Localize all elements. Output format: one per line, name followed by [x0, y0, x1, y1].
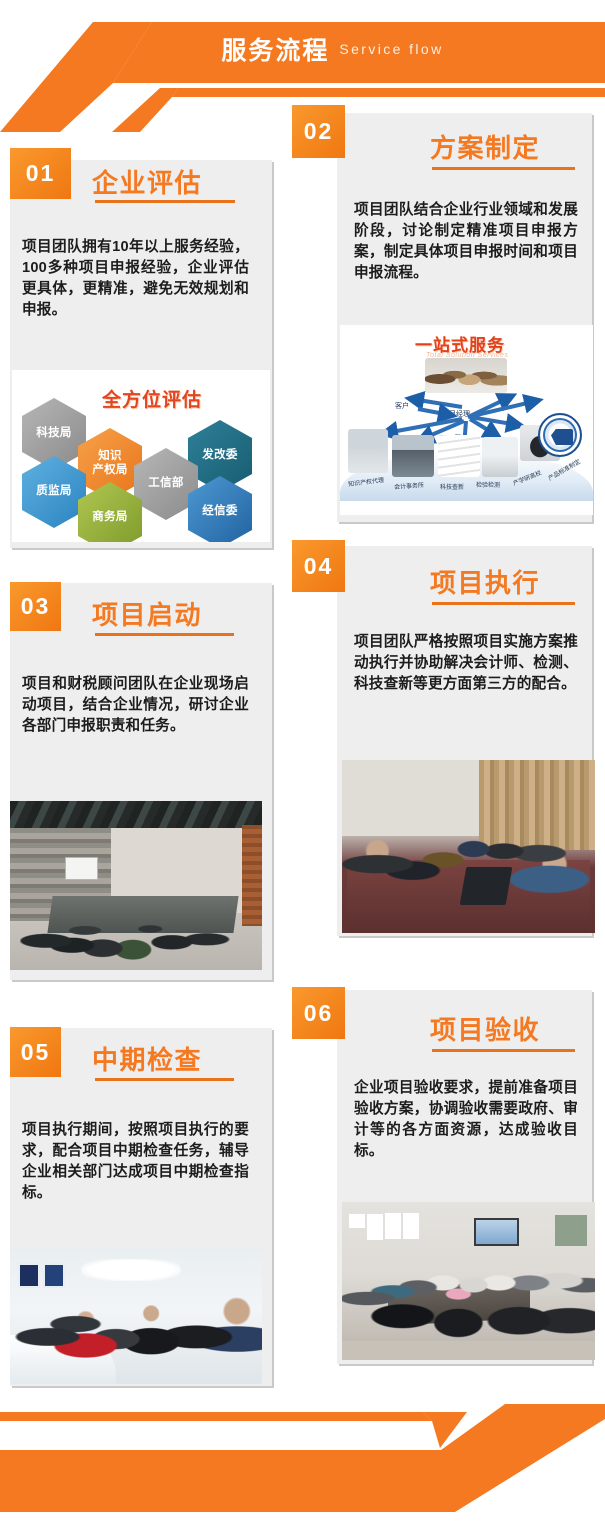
figure-photo-03	[10, 801, 262, 970]
step-title-06: 项目验收	[430, 1010, 540, 1047]
step-number-02: 02	[292, 105, 345, 158]
step-title-underline-04	[432, 602, 575, 605]
hex-node-zhijian: 质监局	[22, 456, 86, 528]
step-desc-03: 项目和财税顾问团队在企业现场启动项目，结合企业情况，研讨企业各部门申报职责和任务…	[22, 674, 249, 737]
figure-photo-05	[10, 1247, 262, 1384]
os-service-label-3: 科技查新	[440, 482, 464, 491]
step-title-underline-01	[95, 200, 235, 203]
step-title-underline-05	[95, 1078, 234, 1081]
step-title-underline-03	[95, 633, 234, 636]
step-desc-02: 项目团队结合企业行业领域和发展阶段，讨论制定精准项目申报方案，制定具体项目申报时…	[354, 200, 578, 284]
figure-hex-diagram-01: 全方位评估 科技局 知识 产权局 发改委 质监局 工信部 经信委 商务局	[12, 370, 270, 542]
os-photo-ip	[348, 429, 388, 473]
os-service-label-4: 检验检测	[476, 480, 500, 489]
step-title-03: 项目启动	[92, 595, 202, 632]
footer-banner-shape	[0, 1404, 605, 1538]
step-desc-05: 项目执行期间，按照项目执行的要求，配合项目中期检查任务，辅导企业相关部门达成项目…	[22, 1120, 249, 1204]
step-number-03: 03	[10, 582, 61, 631]
os-photo-research	[438, 435, 480, 477]
header-title-group: 服务流程Service flow	[0, 31, 605, 67]
hex-diagram-title: 全方位评估	[102, 385, 202, 412]
step-desc-04: 项目团队严格按照项目实施方案推动执行并协助解决会计师、检测、科技查新等更方面第三…	[354, 632, 578, 695]
figure-photo-04	[342, 760, 595, 933]
step-number-05: 05	[10, 1027, 61, 1077]
step-desc-01: 项目团队拥有10年以上服务经验，100多种项目申报经验，企业评估更具体，更精准，…	[22, 237, 249, 321]
step-number-04: 04	[292, 540, 345, 592]
step-title-02: 方案制定	[430, 128, 540, 165]
step-desc-06: 企业项目验收要求，提前准备项目验收方案，协调验收需要政府、审计等的各方面资源，达…	[354, 1078, 578, 1162]
os-photo-accounting	[392, 435, 434, 477]
figure-one-stop-service-02: 一站式服务 Total Solution Services 客户 项目经理	[340, 325, 593, 515]
os-seal-icon	[538, 413, 582, 457]
service-flow-poster: 服务流程Service flow 01 企业评估 项目团队拥有10年以上服务经验…	[0, 0, 605, 1538]
page-subtitle: Service flow	[339, 41, 443, 57]
os-photo-testing	[482, 437, 518, 477]
step-number-01: 01	[10, 148, 71, 199]
step-number-06: 06	[292, 987, 345, 1039]
page-footer: 全国统一热线：400-150-1560	[0, 1404, 605, 1538]
step-title-05: 中期检查	[92, 1040, 202, 1077]
step-title-04: 项目执行	[430, 563, 540, 600]
hex-node-shangwu: 商务局	[78, 482, 142, 542]
step-title-underline-02	[432, 167, 575, 170]
step-title-underline-06	[432, 1049, 575, 1052]
figure-photo-06	[342, 1202, 595, 1360]
page-title: 服务流程	[221, 37, 329, 65]
step-title-01: 企业评估	[92, 163, 202, 200]
